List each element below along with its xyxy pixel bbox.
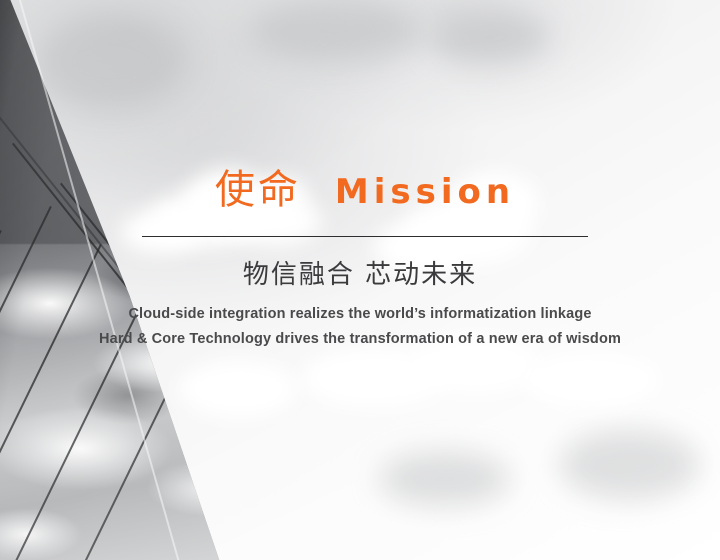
title-english: Mission	[335, 175, 515, 209]
mission-banner: 使命 Mission 物信融合 芯动未来 Cloud-side integrat…	[0, 0, 720, 560]
tagline-line-1: Cloud-side integration realizes the worl…	[0, 302, 720, 327]
tagline-block: Cloud-side integration realizes the worl…	[0, 302, 720, 352]
subtitle-chinese: 物信融合 芯动未来	[0, 258, 720, 292]
banner-content: 使命 Mission 物信融合 芯动未来 Cloud-side integrat…	[0, 0, 720, 560]
title-divider	[142, 236, 588, 237]
title-chinese: 使命	[215, 170, 301, 210]
banner-title: 使命 Mission	[142, 170, 588, 228]
tagline-line-2: Hard & Core Technology drives the transf…	[0, 327, 720, 352]
